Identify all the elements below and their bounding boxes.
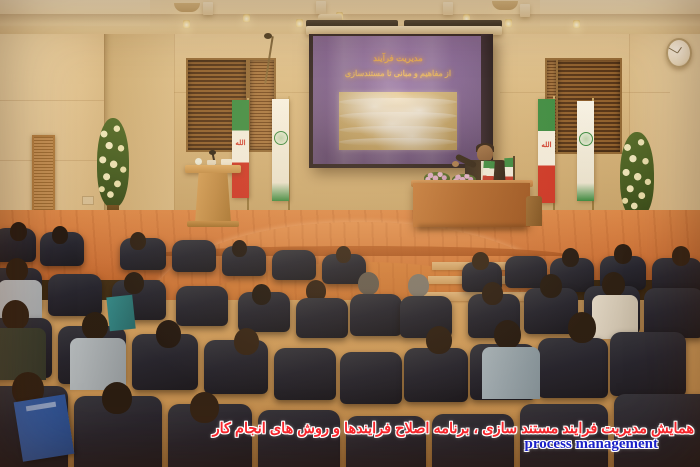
speaker-hand [452, 161, 459, 167]
clock-icon [666, 38, 692, 68]
flag-emblem: الله [235, 139, 245, 147]
clock-minute-hand [669, 48, 678, 54]
attendee-folder [106, 295, 135, 332]
head-table-shadow [418, 225, 526, 230]
lectern-top [185, 165, 241, 173]
caption-block: همایش مدیریت فرایند مستند سازی ، برنامه … [0, 421, 700, 453]
screen-vignette [313, 36, 483, 164]
seat [404, 348, 468, 402]
seat [350, 294, 402, 336]
spotlight-icon [183, 20, 190, 28]
microphone-icon [264, 33, 272, 39]
seat [48, 274, 102, 316]
ceiling-fixture [316, 1, 326, 14]
caption-english: process management [0, 436, 694, 453]
spotlight-icon [296, 19, 303, 27]
lectern-base [187, 221, 239, 227]
projection-screen-surface: مدیریت فرآیند از مفاهیم و مبانی تا مستند… [313, 36, 483, 164]
seat [644, 288, 700, 338]
caption-persian: همایش مدیریت فرایند مستند سازی ، برنامه … [0, 421, 694, 437]
microphone-icon [209, 150, 216, 155]
seat [340, 352, 402, 404]
lectern-body [195, 173, 231, 223]
flag-emblem: الله [541, 141, 551, 149]
side-chair [526, 196, 542, 226]
ceiling-fixture [520, 4, 530, 17]
flag-iran: الله [538, 99, 555, 203]
floral-arrangement [97, 118, 129, 222]
flag-white-organizational [577, 101, 594, 201]
lectern [189, 165, 237, 227]
wall-outlet [82, 196, 94, 205]
seat [538, 338, 608, 398]
seat [172, 240, 216, 272]
seat [176, 286, 228, 326]
spotlight-icon [573, 20, 580, 28]
seat [272, 250, 316, 280]
ceiling-fixture [203, 2, 213, 15]
seat [296, 298, 348, 338]
flag-white-organizational [272, 99, 289, 201]
spotlight-icon [243, 14, 250, 22]
flag-emblem [274, 131, 288, 145]
flag-emblem [579, 132, 593, 146]
spotlight-icon [505, 19, 512, 27]
head-table [413, 183, 530, 227]
wall-seam [0, 100, 104, 101]
ceiling-fixture [443, 2, 453, 15]
conference-hall-photo: مدیریت فرآیند از مفاهیم و مبانی تا مستند… [0, 0, 700, 467]
wall-seam [174, 0, 175, 230]
projection-screen: مدیریت فرآیند از مفاهیم و مبانی تا مستند… [309, 34, 493, 168]
seat [274, 348, 336, 400]
seat [610, 332, 686, 396]
